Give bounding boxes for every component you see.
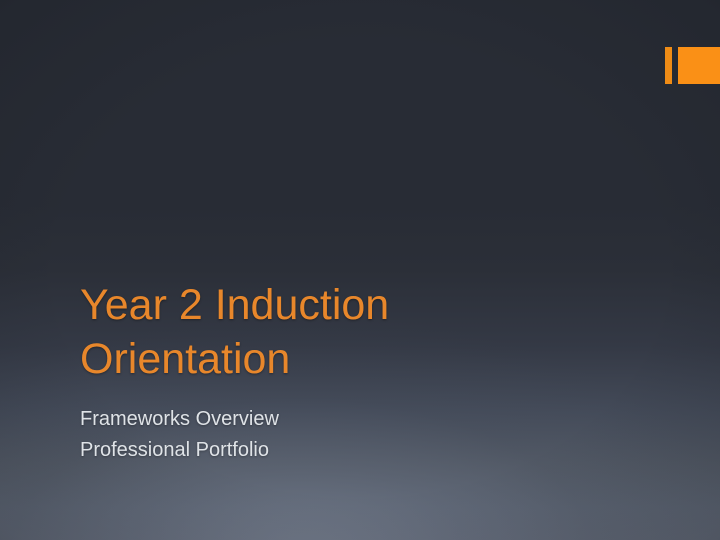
accent-block xyxy=(678,47,720,84)
accent-decoration xyxy=(665,47,720,84)
title-line-1: Year 2 Induction xyxy=(80,281,389,329)
slide-text-container: Year 2 Induction Orientation Frameworks … xyxy=(80,278,640,466)
slide-title: Year 2 Induction Orientation xyxy=(80,278,640,386)
subtitle-line-1: Frameworks Overview xyxy=(80,404,640,435)
subtitle-line-2: Professional Portfolio xyxy=(80,435,640,466)
title-line-2: Orientation xyxy=(80,335,290,383)
slide-subtitle: Frameworks Overview Professional Portfol… xyxy=(80,386,640,466)
title-slide: Year 2 Induction Orientation Frameworks … xyxy=(0,0,720,540)
accent-thin-bar xyxy=(665,47,672,84)
